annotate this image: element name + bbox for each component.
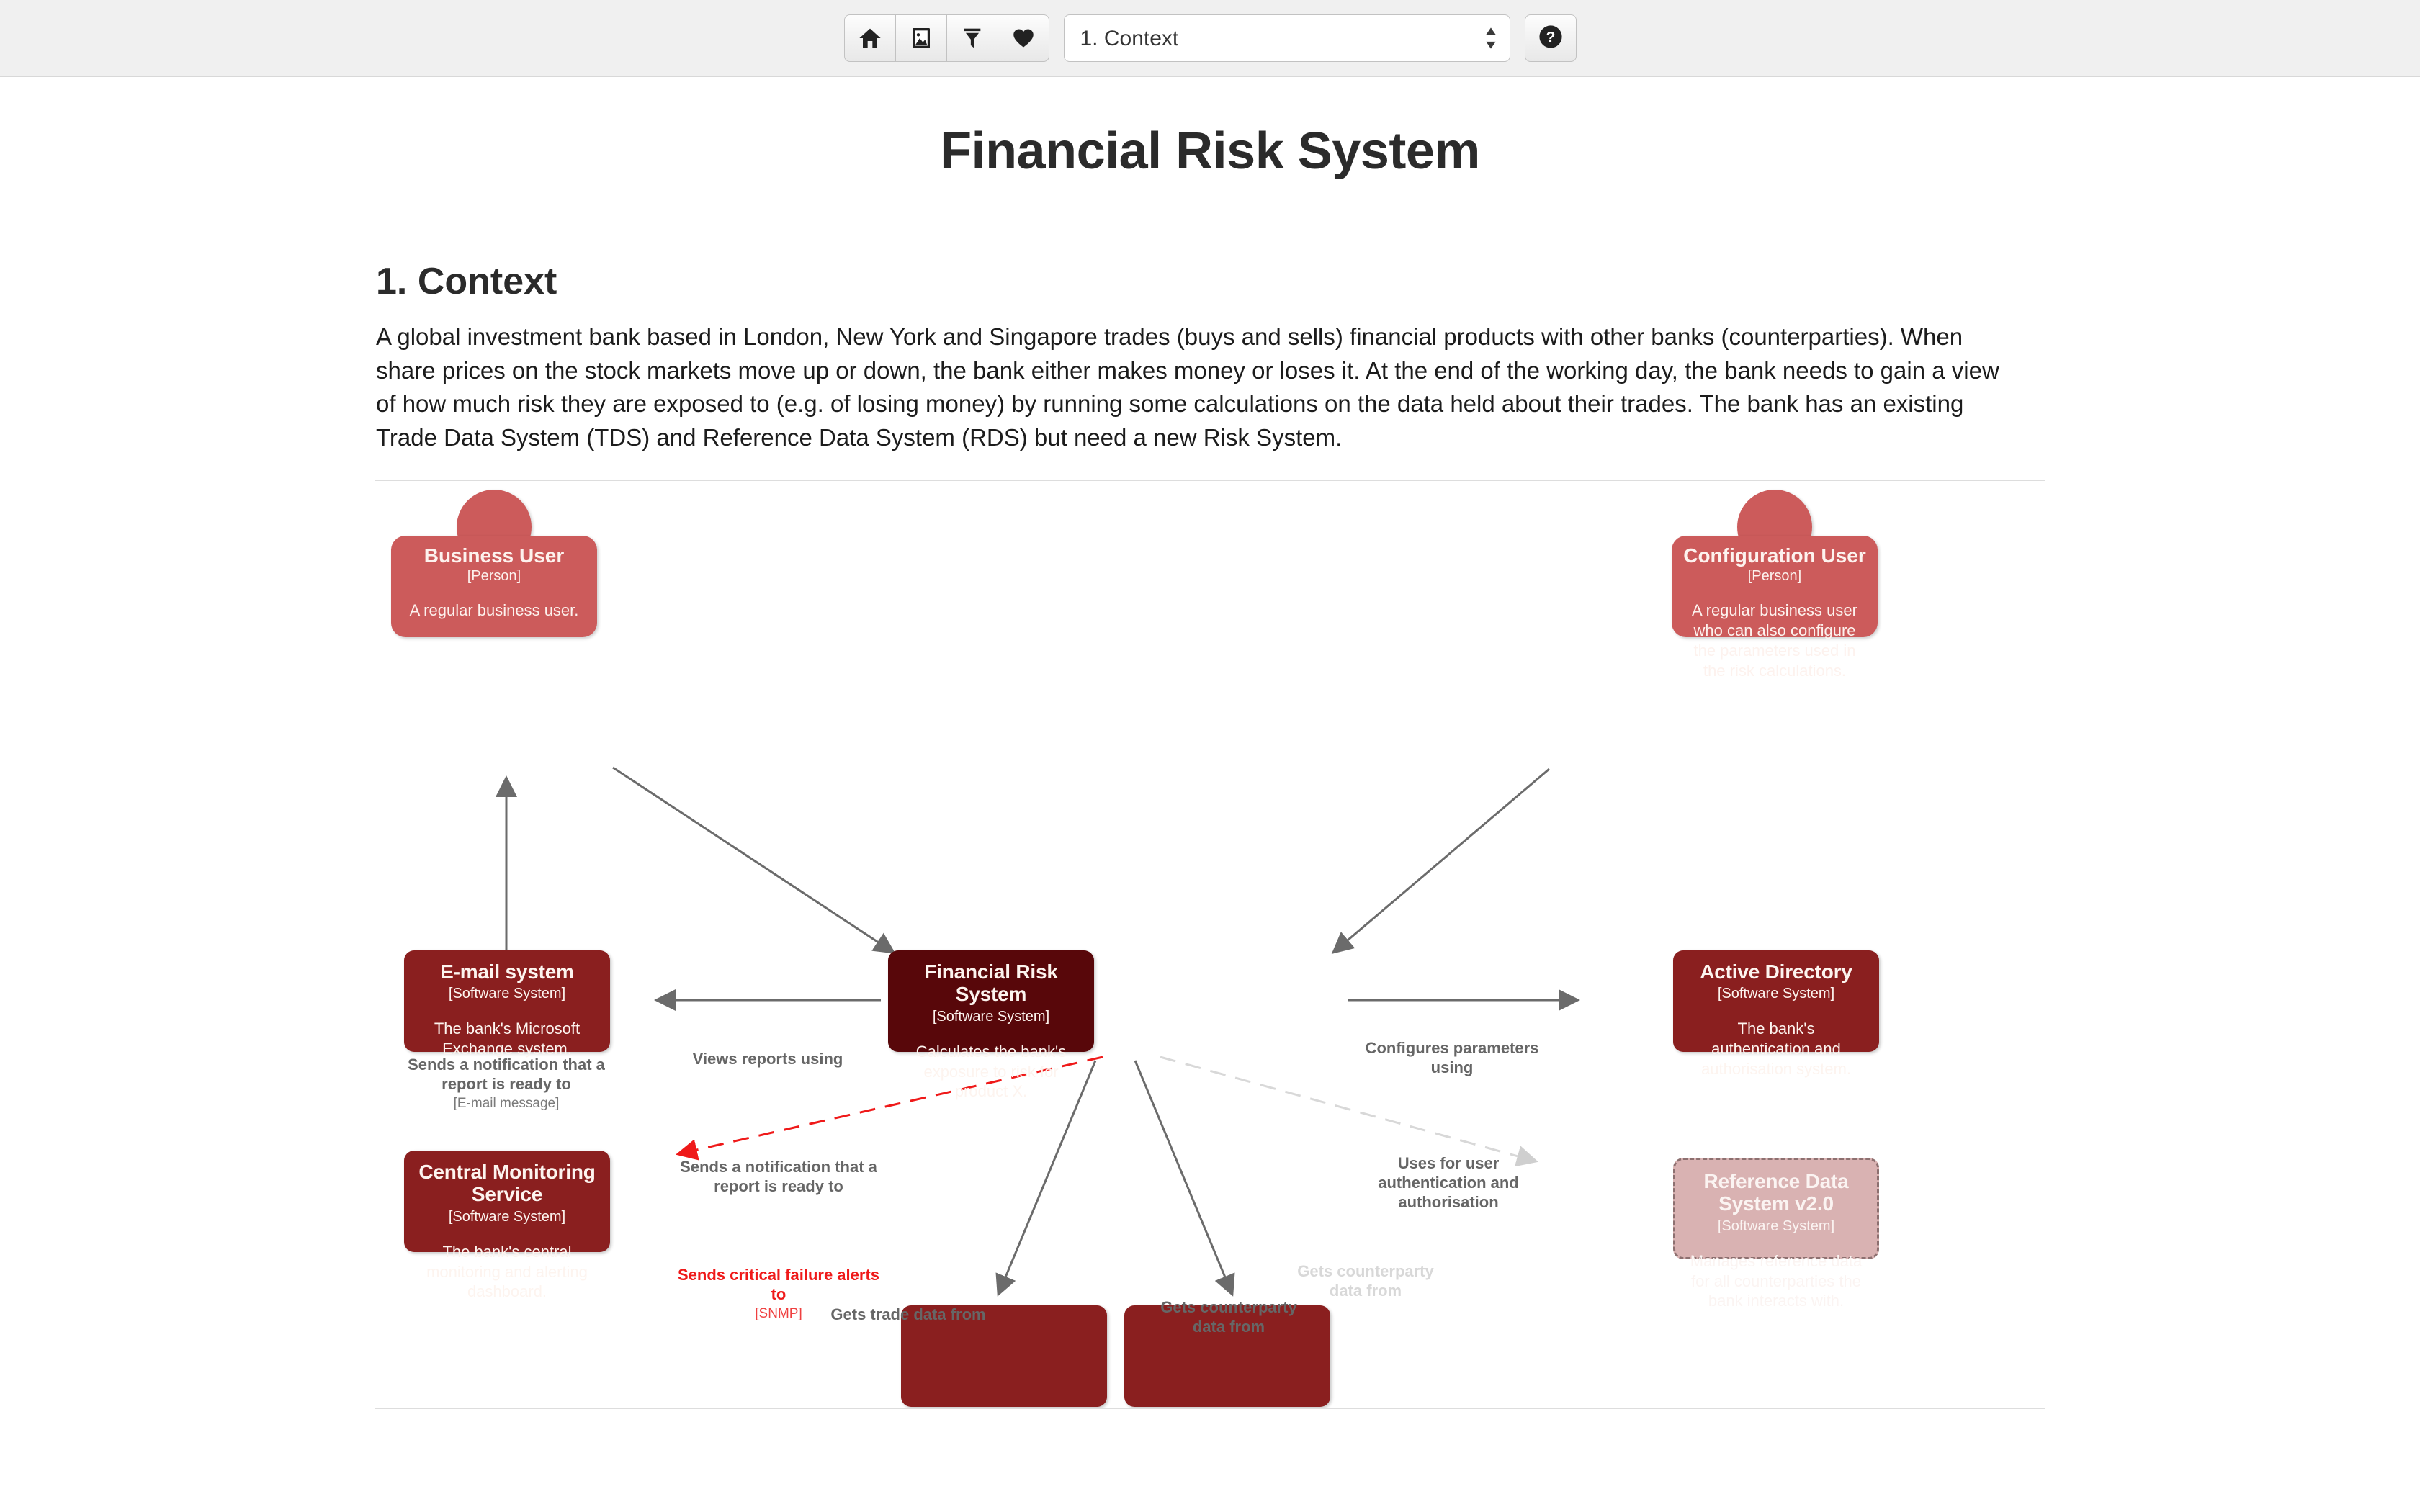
node-financial-risk-system[interactable]: Financial Risk System [Software System] …	[888, 950, 1094, 1052]
person-body: Configuration User [Person] A regular bu…	[1672, 536, 1878, 637]
node-description: The bank's Microsoft Exchange system.	[417, 1019, 597, 1058]
svg-text:?: ?	[1546, 28, 1555, 45]
context-diagram: Business User [Person] A regular busines…	[375, 480, 2045, 1409]
image-button[interactable]	[895, 14, 947, 62]
node-name: E-mail system	[417, 960, 597, 983]
node-type: [Software System]	[417, 1207, 597, 1226]
image-icon	[910, 27, 932, 50]
node-type: [Person]	[1683, 568, 1866, 585]
node-business-user[interactable]: Business User [Person] A regular busines…	[391, 490, 597, 637]
node-active-directory[interactable]: Active Directory [Software System] The b…	[1673, 950, 1879, 1052]
node-description: Manages reference data for all counterpa…	[1688, 1251, 1864, 1311]
node-central-monitoring-service[interactable]: Central Monitoring Service [Software Sys…	[404, 1151, 610, 1252]
chapter-select-wrap: 1. Context	[1064, 14, 1510, 62]
node-name: Business User	[403, 544, 586, 567]
node-name: Central Monitoring Service	[417, 1161, 597, 1206]
home-icon	[858, 27, 882, 50]
filter-button[interactable]	[946, 14, 998, 62]
node-trade-data-system[interactable]	[901, 1305, 1107, 1407]
page-title: Financial Risk System	[375, 122, 2045, 181]
node-description: Calculates the bank's exposure to risk f…	[901, 1042, 1081, 1102]
node-type: [Software System]	[1686, 984, 1866, 1003]
node-configuration-user[interactable]: Configuration User [Person] A regular bu…	[1672, 490, 1878, 637]
node-name: Financial Risk System	[901, 960, 1081, 1006]
node-type: [Person]	[403, 568, 586, 585]
node-type: [Software System]	[417, 984, 597, 1003]
node-description: A regular business user who can also con…	[1683, 600, 1866, 680]
node-reference-data-system-v2[interactable]: Reference Data System v2.0 [Software Sys…	[1673, 1158, 1879, 1259]
favourite-button[interactable]	[998, 14, 1049, 62]
node-description: The bank's authentication and authorisat…	[1686, 1019, 1866, 1079]
help-icon: ?	[1538, 24, 1563, 53]
node-type: [Software System]	[1688, 1217, 1864, 1236]
node-email-system[interactable]: E-mail system [Software System] The bank…	[404, 950, 610, 1052]
toolbar-button-group	[844, 14, 1049, 62]
chapter-select[interactable]: 1. Context	[1064, 14, 1510, 62]
heart-icon	[1013, 27, 1034, 49]
section-body-text: A global investment bank based in London…	[376, 320, 2025, 454]
node-name: Active Directory	[1686, 960, 1866, 983]
node-name: Configuration User	[1683, 544, 1866, 567]
node-type: [Software System]	[901, 1007, 1081, 1026]
filter-icon	[962, 27, 982, 50]
page-content: Financial Risk System 1. Context A globa…	[375, 77, 2045, 1409]
node-name: Reference Data System v2.0	[1688, 1170, 1864, 1215]
section-heading: 1. Context	[376, 260, 2045, 303]
node-reference-data-system[interactable]	[1124, 1305, 1330, 1407]
node-description: The bank's central monitoring and alerti…	[417, 1242, 597, 1302]
help-button[interactable]: ?	[1525, 14, 1577, 62]
home-button[interactable]	[844, 14, 896, 62]
node-description: A regular business user.	[403, 600, 586, 621]
person-body: Business User [Person] A regular busines…	[391, 536, 597, 637]
toolbar: 1. Context ?	[0, 0, 2420, 77]
